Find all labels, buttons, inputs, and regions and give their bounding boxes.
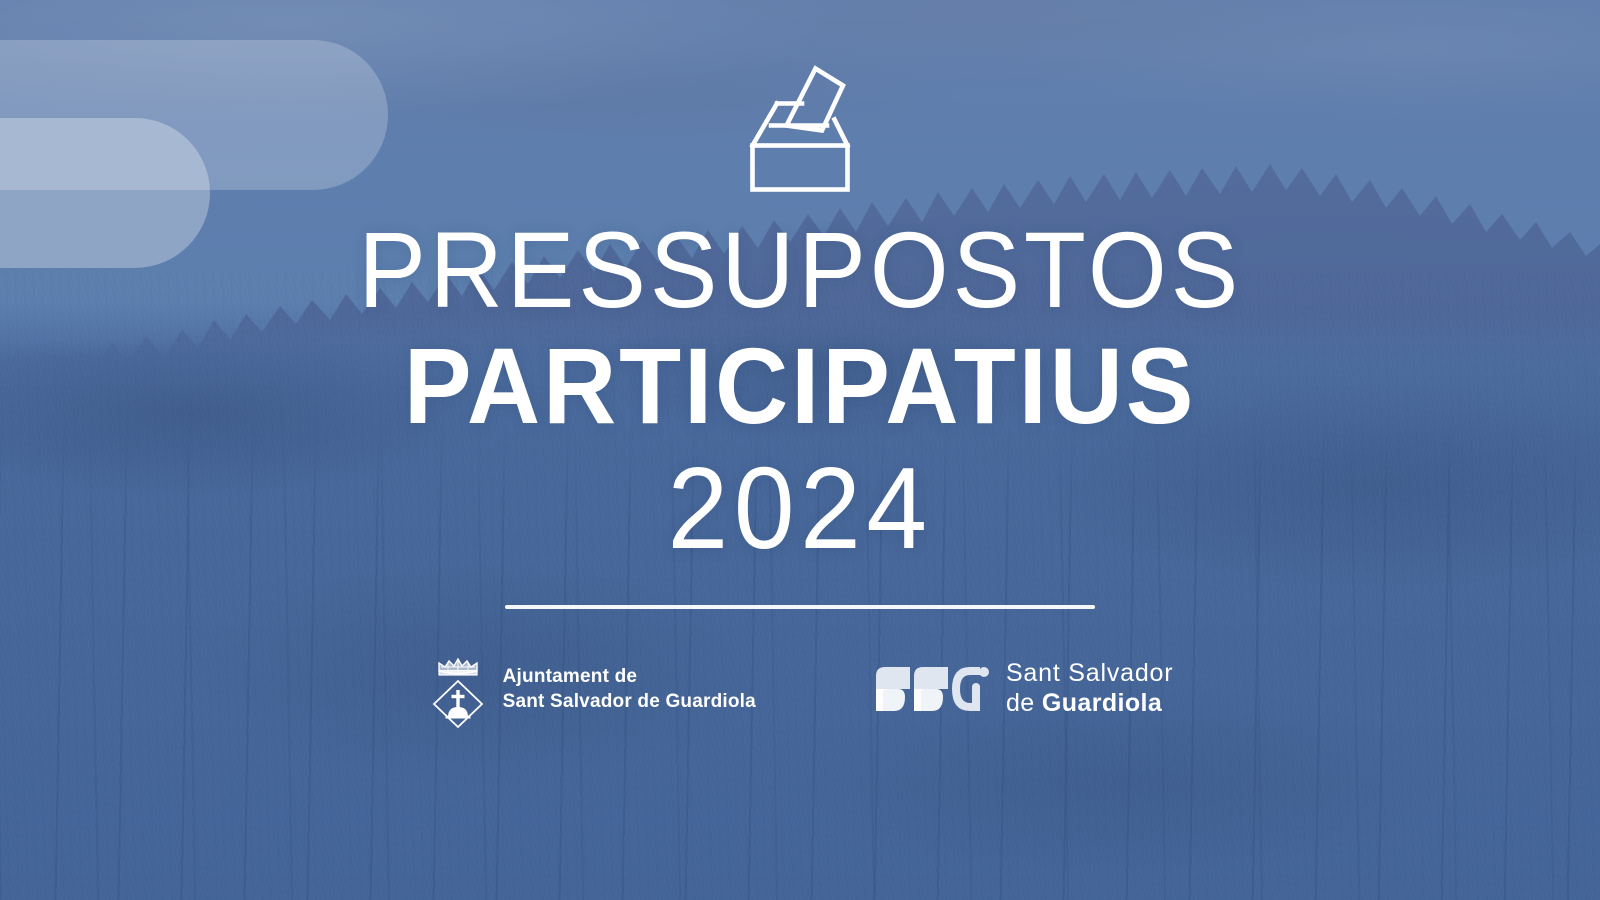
ssg-line-2-name: Guardiola <box>1042 689 1162 717</box>
ssg-line-2: de Guardiola <box>1006 689 1173 719</box>
ajuntament-logo-text: Ajuntament de Sant Salvador de Guardiola <box>503 664 756 714</box>
title-line-pressupostos: PRESSUPOSTOS <box>358 216 1242 324</box>
ballot-box-icon <box>744 62 856 194</box>
poster-content: PRESSUPOSTOS PARTICIPATIUS 2024 <box>0 0 1600 900</box>
ajuntament-logo: Ajuntament de Sant Salvador de Guardiola <box>427 649 756 729</box>
poster-title-block: PRESSUPOSTOS PARTICIPATIUS 2024 <box>330 216 1270 569</box>
ssg-monogram <box>874 666 992 712</box>
crown-and-shield-emblem <box>427 649 489 729</box>
poster-canvas: PRESSUPOSTOS PARTICIPATIUS 2024 <box>0 0 1600 900</box>
ssg-line-1: Sant Salvador <box>1006 659 1173 689</box>
logo-row: Ajuntament de Sant Salvador de Guardiola <box>427 649 1174 729</box>
ajuntament-line-1: Ajuntament de <box>503 664 756 689</box>
horizontal-divider <box>505 605 1095 609</box>
ssg-logo-text: Sant Salvador de Guardiola <box>1006 659 1173 718</box>
title-line-year: 2024 <box>358 448 1242 569</box>
ssg-logo: Sant Salvador de Guardiola <box>874 659 1173 718</box>
title-line-participatius: PARTICIPATIUS <box>358 330 1242 442</box>
ssg-line-2-prefix: de <box>1006 689 1042 717</box>
ajuntament-line-2: Sant Salvador de Guardiola <box>503 689 756 714</box>
